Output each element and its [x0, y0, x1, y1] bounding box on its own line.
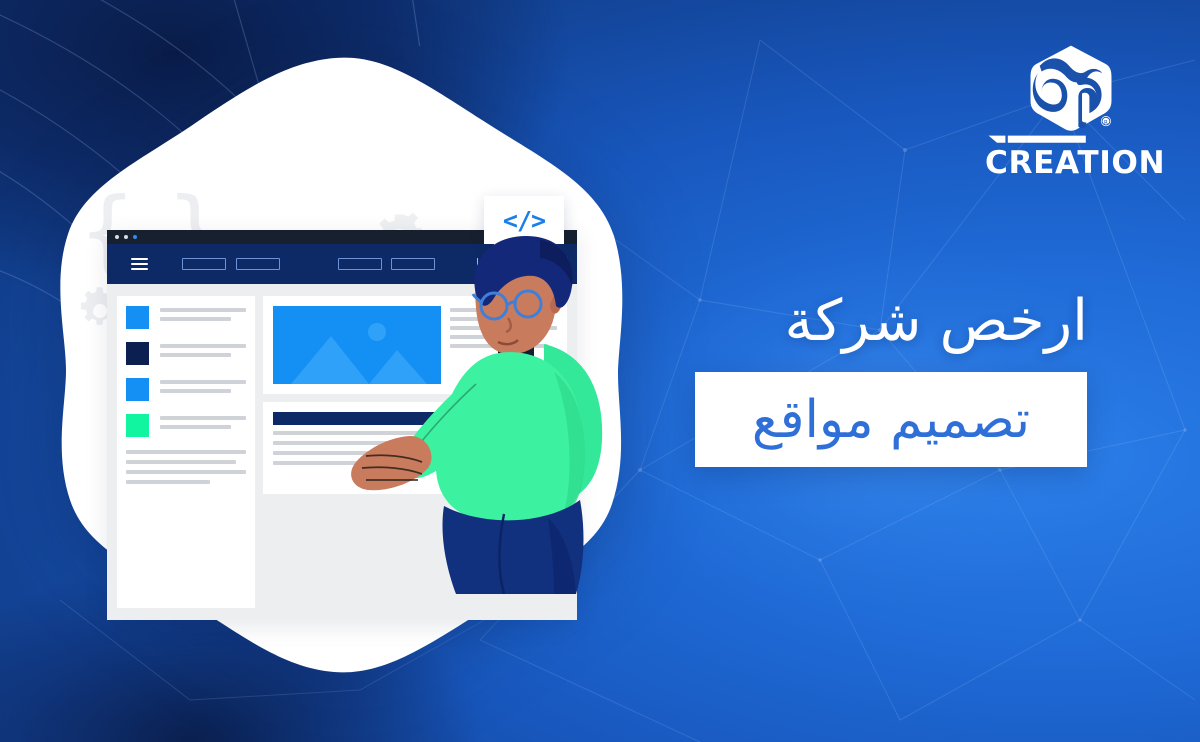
creations-wordmark: CREATIONS [985, 134, 1165, 178]
subhead-highlight-box: تصميم مواقع [695, 372, 1087, 467]
window-dot-3 [133, 235, 137, 239]
cube-trefoil-logo-icon: R [1025, 42, 1117, 134]
sidebar-paragraph [126, 450, 246, 484]
brand-logo[interactable]: R CREATIONS [985, 42, 1165, 177]
nav-pill-2[interactable] [236, 258, 280, 270]
subhead-label: تصميم مواقع [752, 394, 1030, 446]
developer-character [348, 232, 610, 594]
swatch-navy [126, 342, 149, 365]
list-item [126, 342, 246, 365]
list-item [126, 306, 246, 329]
svg-text:R: R [1104, 120, 1108, 126]
list-item [126, 378, 246, 401]
page-title: ارخص شركة [785, 288, 1088, 355]
creations-text: CREATIONS [985, 145, 1165, 178]
swatch-green [126, 414, 149, 437]
web-design-illustration: { } </> [52, 44, 630, 684]
list-item [126, 414, 246, 437]
sidebar-list [117, 296, 255, 608]
code-badge-label: </> [503, 206, 545, 235]
swatch-blue [126, 306, 149, 329]
nav-pill-1[interactable] [182, 258, 226, 270]
window-dot-2 [124, 235, 128, 239]
window-dot-1 [115, 235, 119, 239]
registered-trademark-icon: R [1101, 116, 1111, 126]
banner-canvas: { } </> [0, 0, 1200, 742]
hamburger-menu-icon[interactable] [131, 258, 148, 270]
swatch-blue-2 [126, 378, 149, 401]
